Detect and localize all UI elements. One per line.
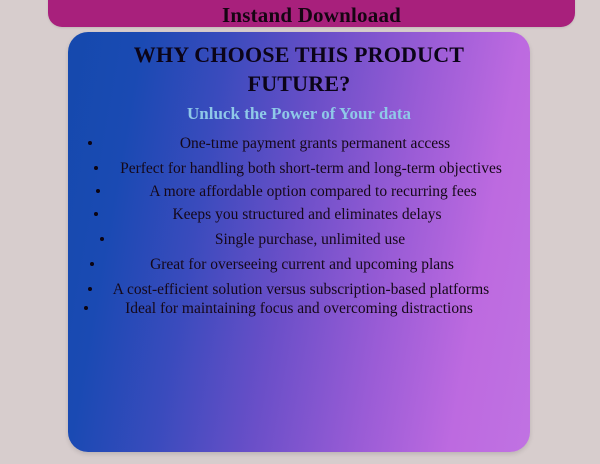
- page-title: WHY CHOOSE THIS PRODUCT FUTURE?: [82, 38, 516, 98]
- benefit-text: Great for overseeing current and upcomin…: [150, 256, 454, 273]
- list-item: Great for overseeing current and upcomin…: [82, 253, 516, 276]
- benefit-text: Perfect for handling both short-term and…: [120, 160, 502, 177]
- list-item: A more affordable option compared to rec…: [82, 180, 516, 203]
- benefit-text: A cost-efficient solution versus subscri…: [113, 281, 489, 298]
- benefits-list: One-tıme payment grants permanent access…: [82, 132, 516, 320]
- bullet-icon: [88, 141, 92, 145]
- benefit-text: Ideal for maintaining focus and overcomi…: [125, 300, 473, 317]
- page-subtitle: Unluck the Power of Your data: [82, 101, 516, 126]
- list-item: Single purchase, unlimited use: [82, 228, 516, 251]
- benefit-text: Single purchase, unlimited use: [215, 231, 405, 248]
- benefit-text: Keeps you structured and eliminates dela…: [172, 206, 441, 223]
- bullet-icon: [84, 306, 88, 310]
- list-item: Keeps you structured and eliminates dela…: [82, 203, 516, 226]
- bullet-icon: [90, 262, 94, 266]
- list-item: One-tıme payment grants permanent access: [82, 132, 516, 155]
- benefit-text: One-tıme payment grants permanent access: [180, 135, 450, 152]
- bullet-icon: [94, 166, 98, 170]
- list-item: Perfect for handling both short-term and…: [82, 157, 516, 180]
- bullet-icon: [96, 189, 100, 193]
- banner-title: Instand Downloaad: [222, 4, 401, 26]
- list-item: Ideal for maintaining focus and overcomi…: [82, 297, 516, 320]
- bullet-icon: [88, 287, 92, 291]
- bullet-icon: [94, 212, 98, 216]
- bullet-icon: [100, 237, 104, 241]
- instant-download-banner: Instand Downloaad: [48, 0, 575, 27]
- benefit-text: A more affordable option compared to rec…: [149, 183, 476, 200]
- promo-card: WHY CHOOSE THIS PRODUCT FUTURE? Unluck t…: [68, 32, 530, 452]
